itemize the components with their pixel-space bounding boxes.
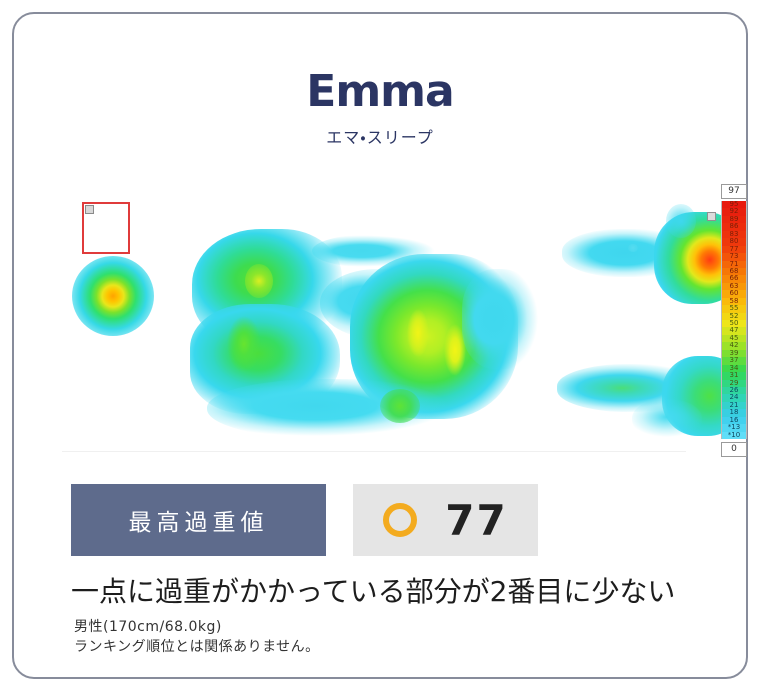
heat-region-heel-upper-spur (666, 204, 696, 238)
colorbar-handle-icon[interactable] (707, 212, 716, 221)
score-value-box: 77 (353, 484, 538, 556)
heat-region-shoulder-hotspot (245, 264, 273, 298)
colorbar-tick: *10 (722, 432, 746, 439)
score-row: 最高過重値 77 (71, 484, 691, 556)
emma-logo: Emma (14, 70, 746, 114)
stage-baseline-divider (62, 451, 686, 452)
notes-block: 男性(170cm/68.0kg) ランキング順位とは関係ありません。 (74, 617, 320, 657)
brand-block: Emma エマ・スリープ (14, 70, 746, 148)
note-line-1: 男性(170cm/68.0kg) (74, 617, 320, 637)
heat-region-lower-leg-tail (632, 399, 702, 439)
heat-region-head (72, 256, 154, 336)
heat-region-mid-back-hotspot (227, 316, 261, 372)
report-card: Emma エマ・スリープ (12, 12, 748, 679)
circle-ring-icon (383, 503, 417, 537)
colorbar-min-label: 0 (721, 442, 747, 457)
pressure-map-stage[interactable]: 97 9592898683807773716866636058555250474… (62, 174, 710, 459)
heat-region-dot-small (628, 244, 638, 252)
score-label: 最高過重値 (71, 484, 326, 556)
colorbar-legend[interactable]: 97 9592898683807773716866636058555250474… (707, 184, 747, 459)
brand-subtitle: エマ・スリープ (14, 124, 746, 148)
selection-rectangle[interactable] (82, 202, 130, 254)
selection-resize-handle[interactable] (85, 205, 94, 214)
note-line-2: ランキング順位とは関係ありません。 (74, 637, 320, 657)
score-number: 77 (445, 496, 507, 545)
heat-region-hip-tail (462, 269, 542, 369)
pressure-heatmap[interactable] (62, 174, 692, 452)
colorbar-max-label: 97 (721, 184, 747, 199)
headline-text: 一点に過重がかかっている部分が2番目に少ない (71, 570, 741, 610)
heat-region-thigh-hotspot (380, 389, 420, 423)
colorbar-scale[interactable]: 9592898683807773716866636058555250474542… (721, 201, 747, 439)
heat-region-hip-hotspot-left (407, 309, 429, 357)
